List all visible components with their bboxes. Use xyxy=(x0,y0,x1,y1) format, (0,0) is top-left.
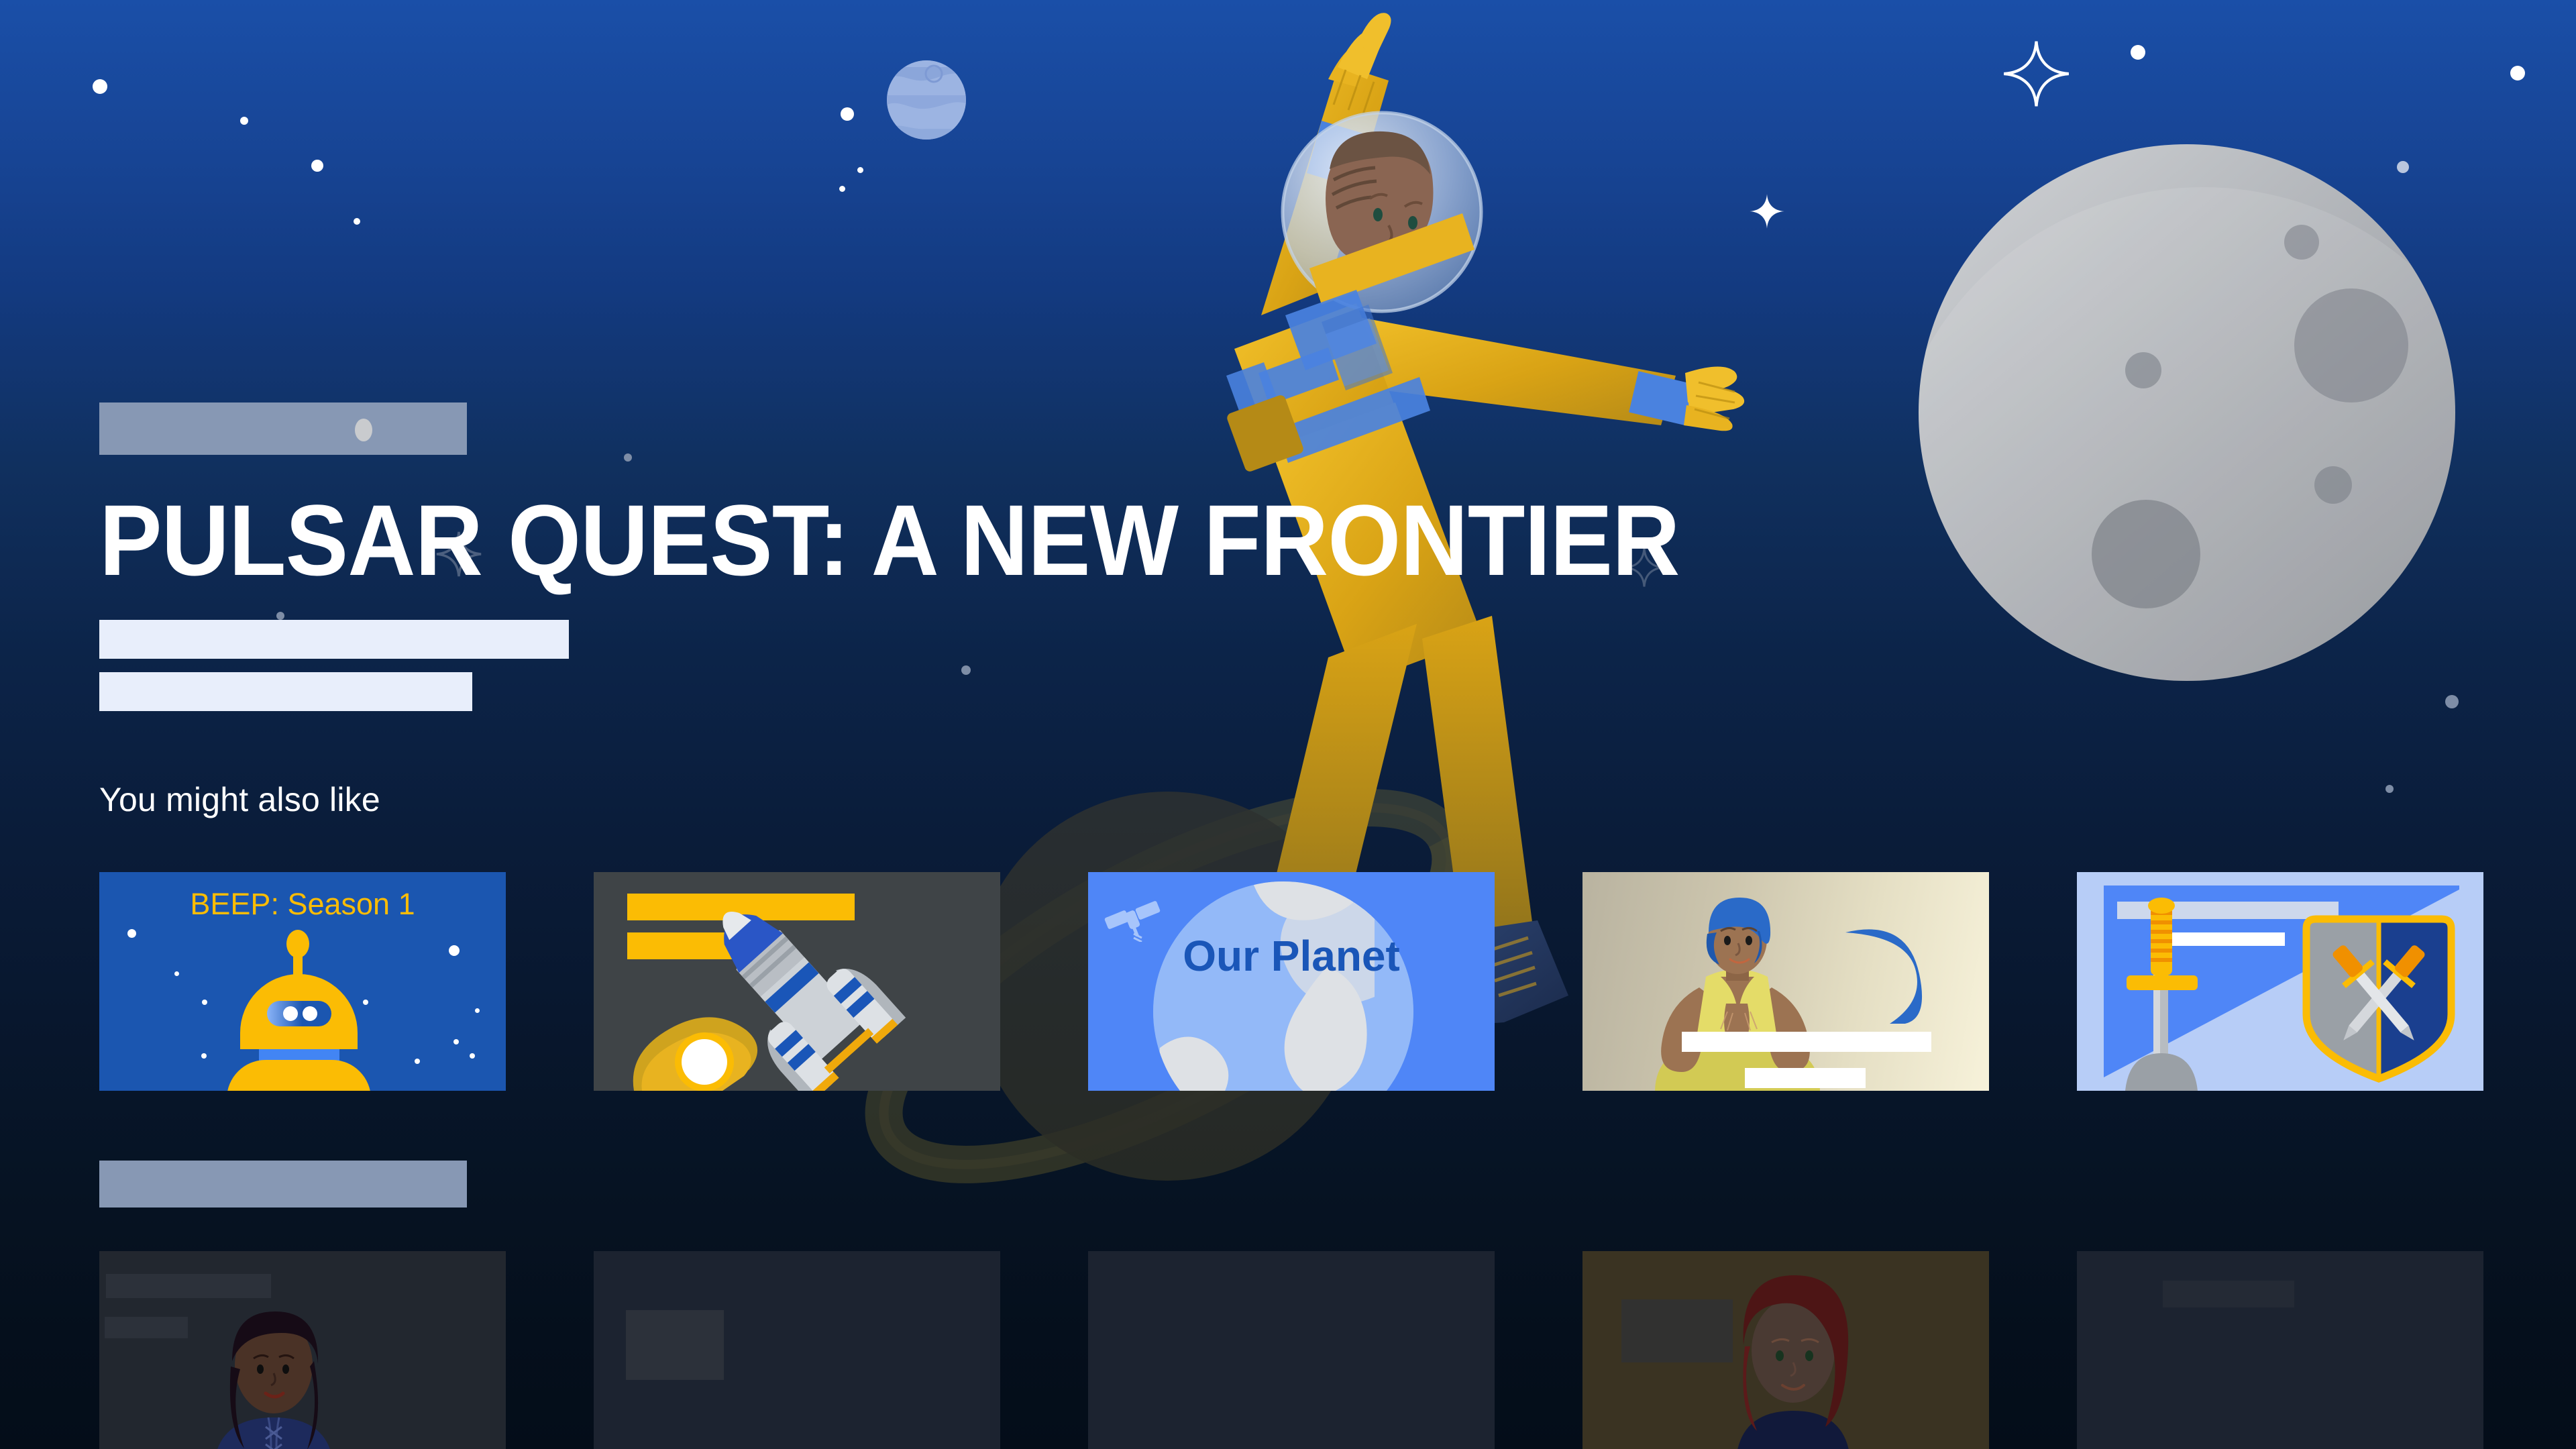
row-1-heading: You might also like xyxy=(99,780,380,819)
card-placeholder-bar-1 xyxy=(1682,1032,1931,1052)
card-row2-3[interactable] xyxy=(1088,1251,1495,1449)
card-title-beep: BEEP: Season 1 xyxy=(99,887,506,922)
globe-illustration xyxy=(1153,881,1413,1091)
card-rocket-launch[interactable] xyxy=(594,872,1000,1091)
meditating-person-illustration xyxy=(1647,891,1828,1091)
robot-eye-left xyxy=(283,1006,298,1021)
row-1-cards: BEEP: Season 1 xyxy=(99,872,2483,1091)
row-2-cards xyxy=(99,1251,2483,1449)
card-meditation[interactable] xyxy=(1582,872,1989,1091)
card-row2-1[interactable] xyxy=(99,1251,506,1449)
rocket-illustration xyxy=(594,872,1000,1091)
card-title-our-planet: Our Planet xyxy=(1088,931,1495,982)
page-title: PULSAR QUEST: A NEW FRONTIER xyxy=(99,490,1919,590)
sword-in-stone-icon xyxy=(2114,896,2208,1091)
robot-body xyxy=(227,1060,371,1091)
card-row2-5[interactable] xyxy=(2077,1251,2483,1449)
row-2-heading-placeholder xyxy=(99,1161,467,1207)
hero-meta-placeholder-2 xyxy=(99,672,472,711)
card-beep-season-1[interactable]: BEEP: Season 1 xyxy=(99,872,506,1091)
hero-eyebrow-placeholder xyxy=(99,402,467,455)
card-placeholder-bar-2 xyxy=(1745,1068,1866,1088)
hero-content: PULSAR QUEST: A NEW FRONTIER xyxy=(99,402,2045,711)
hero-meta-placeholder-1 xyxy=(99,620,569,659)
eyebrow-dot xyxy=(355,419,372,441)
card-sword-and-shield[interactable] xyxy=(2077,872,2483,1091)
robot-visor xyxy=(267,1001,331,1026)
sparkle-star-large-icon xyxy=(2001,37,2072,111)
card-our-planet[interactable]: Our Planet xyxy=(1088,872,1495,1091)
card-row2-2[interactable] xyxy=(594,1251,1000,1449)
portrait-woman-red-hair xyxy=(1697,1270,1891,1449)
shield-with-swords-icon xyxy=(2298,911,2459,1087)
hero-page: PULSAR QUEST: A NEW FRONTIER You might a… xyxy=(0,0,2576,1449)
crescent-moon-icon xyxy=(1820,910,1927,1024)
card-row2-4[interactable] xyxy=(1582,1251,1989,1449)
robot-antenna-tip xyxy=(286,930,309,958)
portrait-woman-dark-hair xyxy=(186,1307,361,1449)
robot-eye-right xyxy=(303,1006,317,1021)
